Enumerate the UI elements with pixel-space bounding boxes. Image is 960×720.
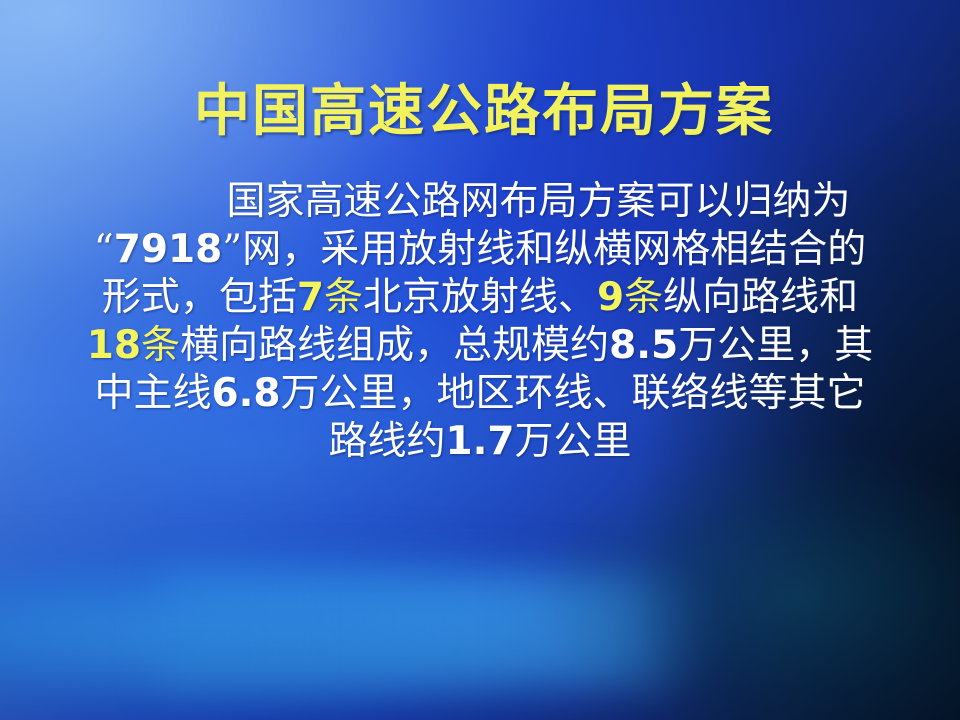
body-line-4: 18条横向路线组成，总规模约8.5万公里，其: [30, 322, 930, 370]
body-line-3-segment-2: 7: [297, 275, 324, 320]
body-line-3-segment-4: 北京放射线、: [363, 275, 597, 320]
body-line-3-segment-3: 条: [324, 275, 363, 320]
body-line-2: “7918”网，采用放射线和纵横网格相结合的: [30, 226, 930, 274]
body-line-4-segment-1: 18: [87, 323, 141, 368]
body-line-3-segment-1: 形式，包括: [102, 275, 297, 320]
body-line-1: 国家高速公路网布局方案可以归纳为: [30, 178, 930, 226]
slide-body-text: 国家高速公路网布局方案可以归纳为 “7918”网，采用放射线和纵横网格相结合的 …: [30, 178, 930, 466]
body-line-5: 中主线6.8万公里，地区环线、联络线等其它: [30, 370, 930, 418]
body-line-6-segment-3: 万公里: [515, 419, 632, 464]
body-line-4-segment-5: 万公里，其: [678, 323, 873, 368]
body-line-3-segment-6: 条: [624, 275, 663, 320]
body-line-2-segment-3: ”: [222, 227, 242, 272]
body-line-4-segment-2: 条: [141, 323, 180, 368]
slide-title: 中国高速公路布局方案: [0, 81, 960, 141]
body-line-5-segment-2: 6.8: [211, 371, 280, 416]
body-line-5-segment-1: 中主线: [94, 371, 211, 416]
body-line-2-segment-1: “: [94, 227, 114, 272]
body-line-4-segment-3: 横向路线组成，总规模约: [180, 323, 609, 368]
body-line-1-segment-1: 国家高速公路网布局方案可以归纳为: [109, 179, 850, 224]
body-line-3-segment-5: 9: [597, 275, 624, 320]
body-line-2-segment-4: 网，采用放射线和纵横网格相结合的: [242, 227, 866, 272]
body-line-5-segment-3: 万公里，地区环线、联络线等其它: [281, 371, 866, 416]
body-line-2-segment-2: 7918: [114, 227, 223, 272]
body-line-4-segment-4: 8.5: [609, 323, 678, 368]
body-line-6-segment-2: 1.7: [445, 419, 514, 464]
body-line-3: 形式，包括7条北京放射线、9条纵向路线和: [30, 274, 930, 322]
slide-content: 中国高速公路布局方案 国家高速公路网布局方案可以归纳为 “7918”网，采用放射…: [0, 0, 960, 720]
body-line-6-segment-1: 路线约: [328, 419, 445, 464]
body-line-6: 路线约1.7万公里: [30, 418, 930, 466]
body-line-3-segment-7: 纵向路线和: [663, 275, 858, 320]
presentation-slide: 中国高速公路布局方案 国家高速公路网布局方案可以归纳为 “7918”网，采用放射…: [0, 0, 960, 720]
